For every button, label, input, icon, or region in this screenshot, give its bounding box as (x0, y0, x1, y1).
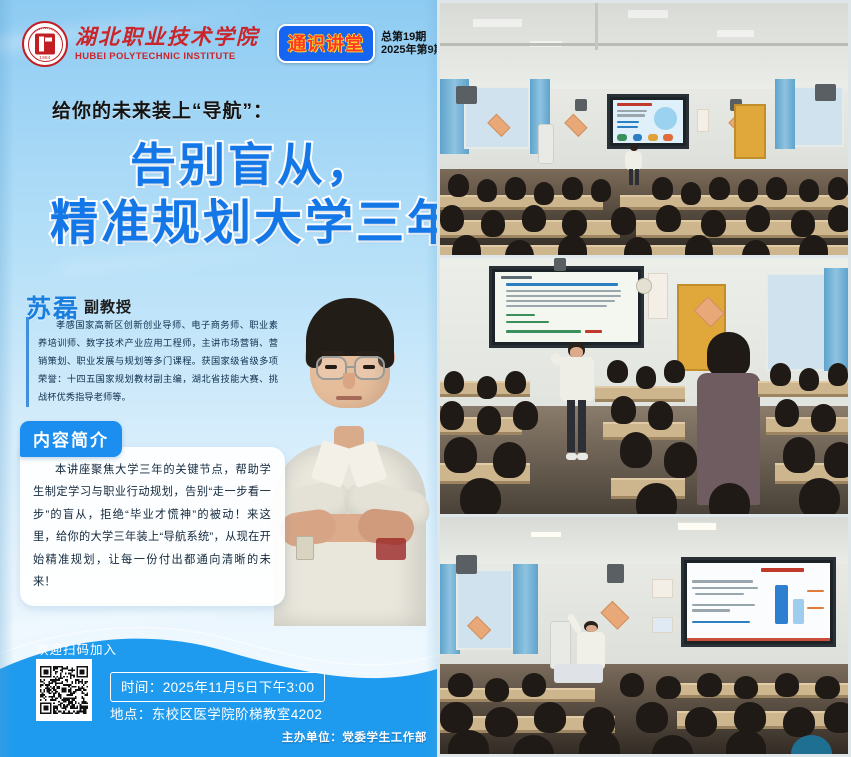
issue-total: 总第19期 (381, 31, 437, 44)
event-place: 地点：东校区医学院阶梯教室4202 (110, 703, 322, 723)
scan-prompt-label: 欢迎扫码加入 (36, 639, 117, 658)
seal-year: 1984 (24, 55, 66, 60)
university-name-en: HUBEI POLYTECHNIC INSTITUTE (75, 51, 259, 62)
poster-page: 1984 湖北职业技术学院 HUBEI POLYTECHNIC INSTITUT… (0, 0, 851, 757)
intro-section-text: 本讲座聚焦大学三年的关键节点，帮助学生制定学习与职业行动规划，告别“走一步看一步… (20, 447, 285, 606)
poster-subtitle: 给你的未来装上“导航”： (52, 96, 273, 123)
photo-lecture-slide (440, 517, 848, 754)
photo-lecture-speaker (440, 258, 848, 514)
photo-column (437, 0, 851, 757)
poster-footer: 欢迎扫码加入 时间：2025年11月5日下午3:00 地点：东校区医学院阶梯教室… (0, 637, 437, 757)
series-badge-label: 通识讲堂 (288, 34, 364, 55)
university-seal-icon: 1984 (22, 21, 68, 67)
university-name-cn: 湖北职业技术学院 (75, 26, 259, 48)
event-organizer: 主办单位：党委学生工作部 (282, 729, 427, 745)
speaker-rank: 副教授 (84, 296, 132, 317)
qr-code[interactable] (36, 659, 92, 721)
issue-year: 2025年第9期 (381, 44, 437, 57)
qr-code-image (40, 663, 88, 717)
poster-header: 1984 湖北职业技术学院 HUBEI POLYTECHNIC INSTITUT… (0, 18, 437, 82)
event-time: 时间：2025年11月5日下午3:00 (121, 680, 314, 695)
university-logo: 1984 湖北职业技术学院 HUBEI POLYTECHNIC INSTITUT… (22, 21, 259, 67)
photo-lecture-wide (440, 3, 848, 255)
series-badge: 通识讲堂 (277, 24, 375, 63)
intro-section-badge: 内容简介 (20, 421, 122, 457)
series-badge-group: 通识讲堂 总第19期 2025年第9期 (277, 24, 437, 63)
speaker-bio: 孝感国家高新区创新创业导师、电子商务师、职业素养培训师、数字技术产业应用工程师，… (26, 317, 278, 407)
issue-info: 总第19期 2025年第9期 (381, 31, 437, 56)
lecture-poster: 1984 湖北职业技术学院 HUBEI POLYTECHNIC INSTITUT… (0, 0, 437, 757)
poster-title-line2: 精准规划大学三年 (50, 183, 437, 253)
event-time-box: 时间：2025年11月5日下午3:00 (110, 672, 325, 702)
